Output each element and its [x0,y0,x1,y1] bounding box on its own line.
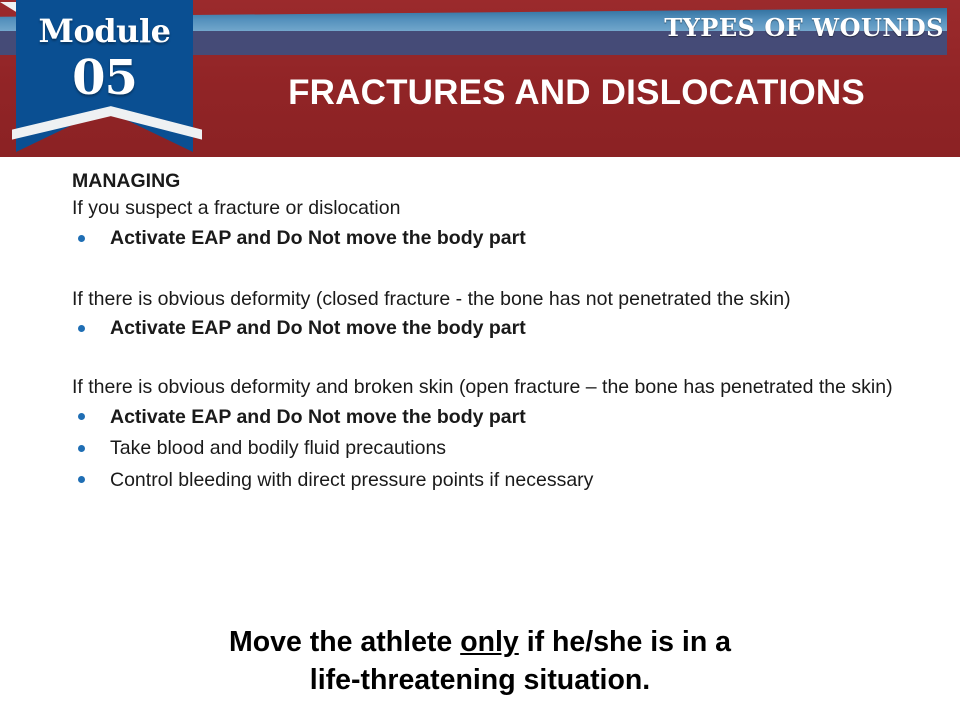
section-2-bullets: Activate EAP and Do Not move the body pa… [72,313,942,345]
badge-module-label: Module [16,12,193,50]
list-item: Control bleeding with direct pressure po… [72,465,942,497]
callout-line-1: Move the athlete only if he/she is in a [0,624,960,662]
spacer [72,255,942,286]
section-1-lead: If you suspect a fracture or dislocation [72,195,937,223]
content-section-2: If there is obvious deformity (closed fr… [72,286,942,345]
section-1-bullets: Activate EAP and Do Not move the body pa… [72,223,942,255]
badge-module-number: 05 [16,50,193,106]
content-section-1: If you suspect a fracture or dislocation… [72,195,942,254]
section-3-lead: If there is obvious deformity and broken… [72,374,937,402]
page-title: FRACTURES AND DISLOCATIONS [193,73,960,113]
list-item: Take blood and bodily fluid precautions [72,433,942,465]
callout-line-2: life-threatening situation. [0,662,960,700]
callout-emphasis-only: only [460,626,519,658]
list-item: Activate EAP and Do Not move the body pa… [72,223,942,255]
slide-content: MANAGING If you suspect a fracture or di… [72,168,942,496]
section-2-lead: If there is obvious deformity (closed fr… [72,286,937,314]
list-item-label: Take blood and bodily fluid precautions [110,437,446,459]
content-section-3: If there is obvious deformity and broken… [72,374,942,496]
slide: TYPES OF WOUNDS FRACTURES AND DISLOCATIO… [0,0,960,720]
bullet-dot-icon [78,325,85,332]
bullet-dot-icon [78,445,85,452]
bullet-dot-icon [78,413,85,420]
list-item: Activate EAP and Do Not move the body pa… [72,313,942,345]
slide-header: TYPES OF WOUNDS FRACTURES AND DISLOCATIO… [0,0,960,157]
callout-line-1-before: Move the athlete [229,626,460,658]
header-eyebrow-title: TYPES OF WOUNDS [664,13,944,42]
spacer [72,345,942,374]
closing-callout: Move the athlete only if he/she is in a … [0,624,960,699]
module-badge: Module 05 [16,0,193,152]
content-heading: MANAGING [72,168,942,195]
bullet-dot-icon [78,476,85,483]
list-item-label: Activate EAP and Do Not move the body pa… [110,406,526,428]
list-item-label: Activate EAP and Do Not move the body pa… [110,227,526,249]
bullet-dot-icon [78,235,85,242]
list-item: Activate EAP and Do Not move the body pa… [72,402,942,434]
list-item-label: Control bleeding with direct pressure po… [110,469,593,491]
list-item-label: Activate EAP and Do Not move the body pa… [110,317,526,339]
section-3-bullets: Activate EAP and Do Not move the body pa… [72,402,942,497]
callout-line-1-after: if he/she is in a [519,626,731,658]
